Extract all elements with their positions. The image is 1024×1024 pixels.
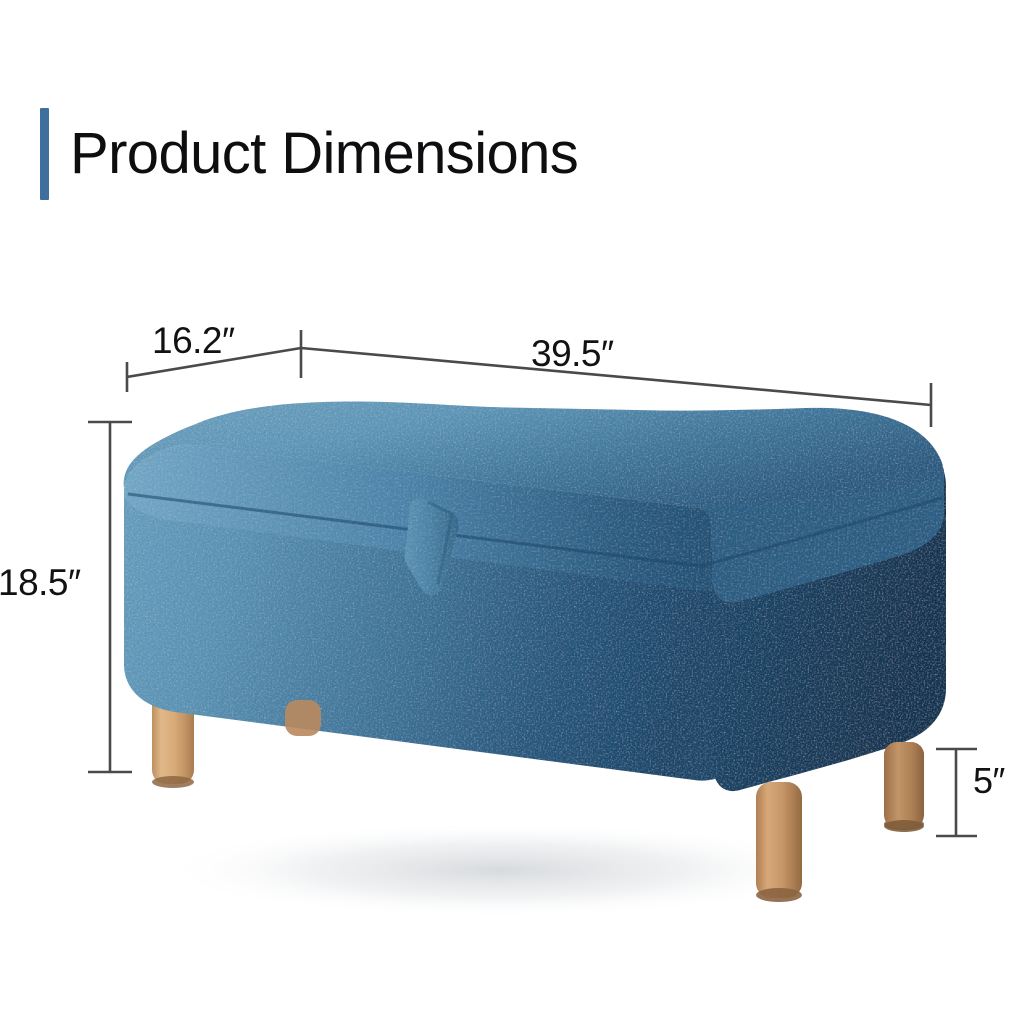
dimension-line-leg-height — [936, 749, 977, 836]
dimension-line-height — [88, 422, 132, 772]
dimension-line-width — [301, 348, 931, 427]
dimension-lines — [0, 0, 1024, 1024]
dimension-line-depth — [127, 330, 301, 392]
product-dimensions-page: Product Dimensions — [0, 0, 1024, 1024]
